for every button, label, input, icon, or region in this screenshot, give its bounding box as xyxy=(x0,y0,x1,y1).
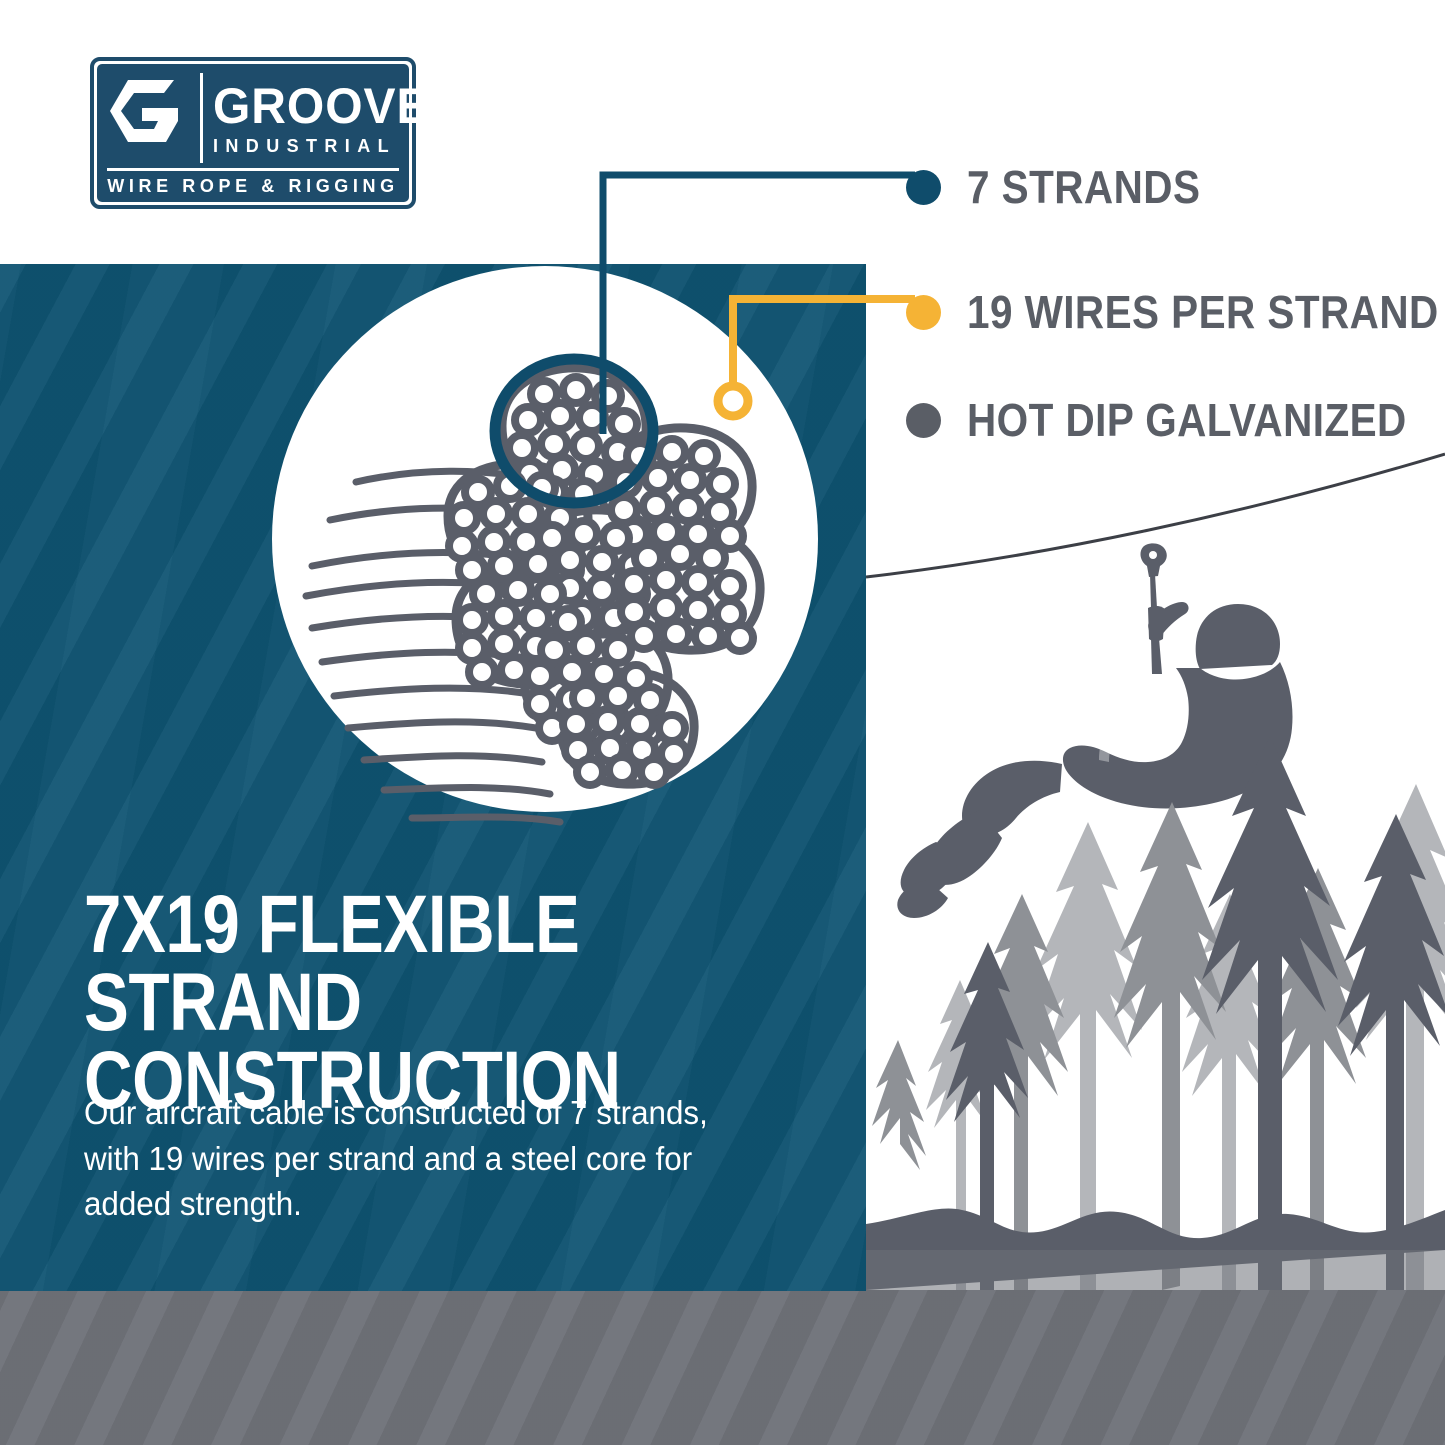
page-title: 7X19 FLEXIBLE STRAND CONSTRUCTION xyxy=(84,886,707,1120)
callout-dot-wires xyxy=(906,295,941,330)
logo-name: GROOVE xyxy=(213,83,390,131)
bottom-strip xyxy=(0,1290,1445,1445)
callout-wires: 19 WIRES PER STRAND xyxy=(906,285,1445,339)
wire-rope-svg xyxy=(272,266,832,826)
callout-dot-strands xyxy=(906,170,941,205)
callout-label-strands: 7 STRANDS xyxy=(967,160,1200,214)
callout-label-wires: 19 WIRES PER STRAND xyxy=(967,285,1439,339)
logo-tagline: WIRE ROPE & RIGGING xyxy=(107,171,399,202)
callout-strands: 7 STRANDS xyxy=(906,160,1232,214)
groove-hex-g-icon xyxy=(108,80,180,142)
callout-label-galvanized: HOT DIP GALVANIZED xyxy=(967,393,1407,447)
infographic-page: 7 STRANDS 19 WIRES PER STRAND HOT DIP GA… xyxy=(0,0,1445,1445)
brand-logo: GROOVE INDUSTRIAL WIRE ROPE & RIGGING xyxy=(90,57,416,209)
logo-subname: INDUSTRIAL xyxy=(213,137,397,155)
body-copy: Our aircraft cable is constructed of 7 s… xyxy=(84,1090,711,1227)
logo-wordmark: GROOVE INDUSTRIAL xyxy=(213,76,397,162)
callout-galvanized: HOT DIP GALVANIZED xyxy=(906,393,1445,447)
callout-dot-galvanized xyxy=(906,403,941,438)
wire-rope-cross-section xyxy=(272,266,832,826)
logo-inner-plate: GROOVE INDUSTRIAL WIRE ROPE & RIGGING xyxy=(97,64,409,202)
